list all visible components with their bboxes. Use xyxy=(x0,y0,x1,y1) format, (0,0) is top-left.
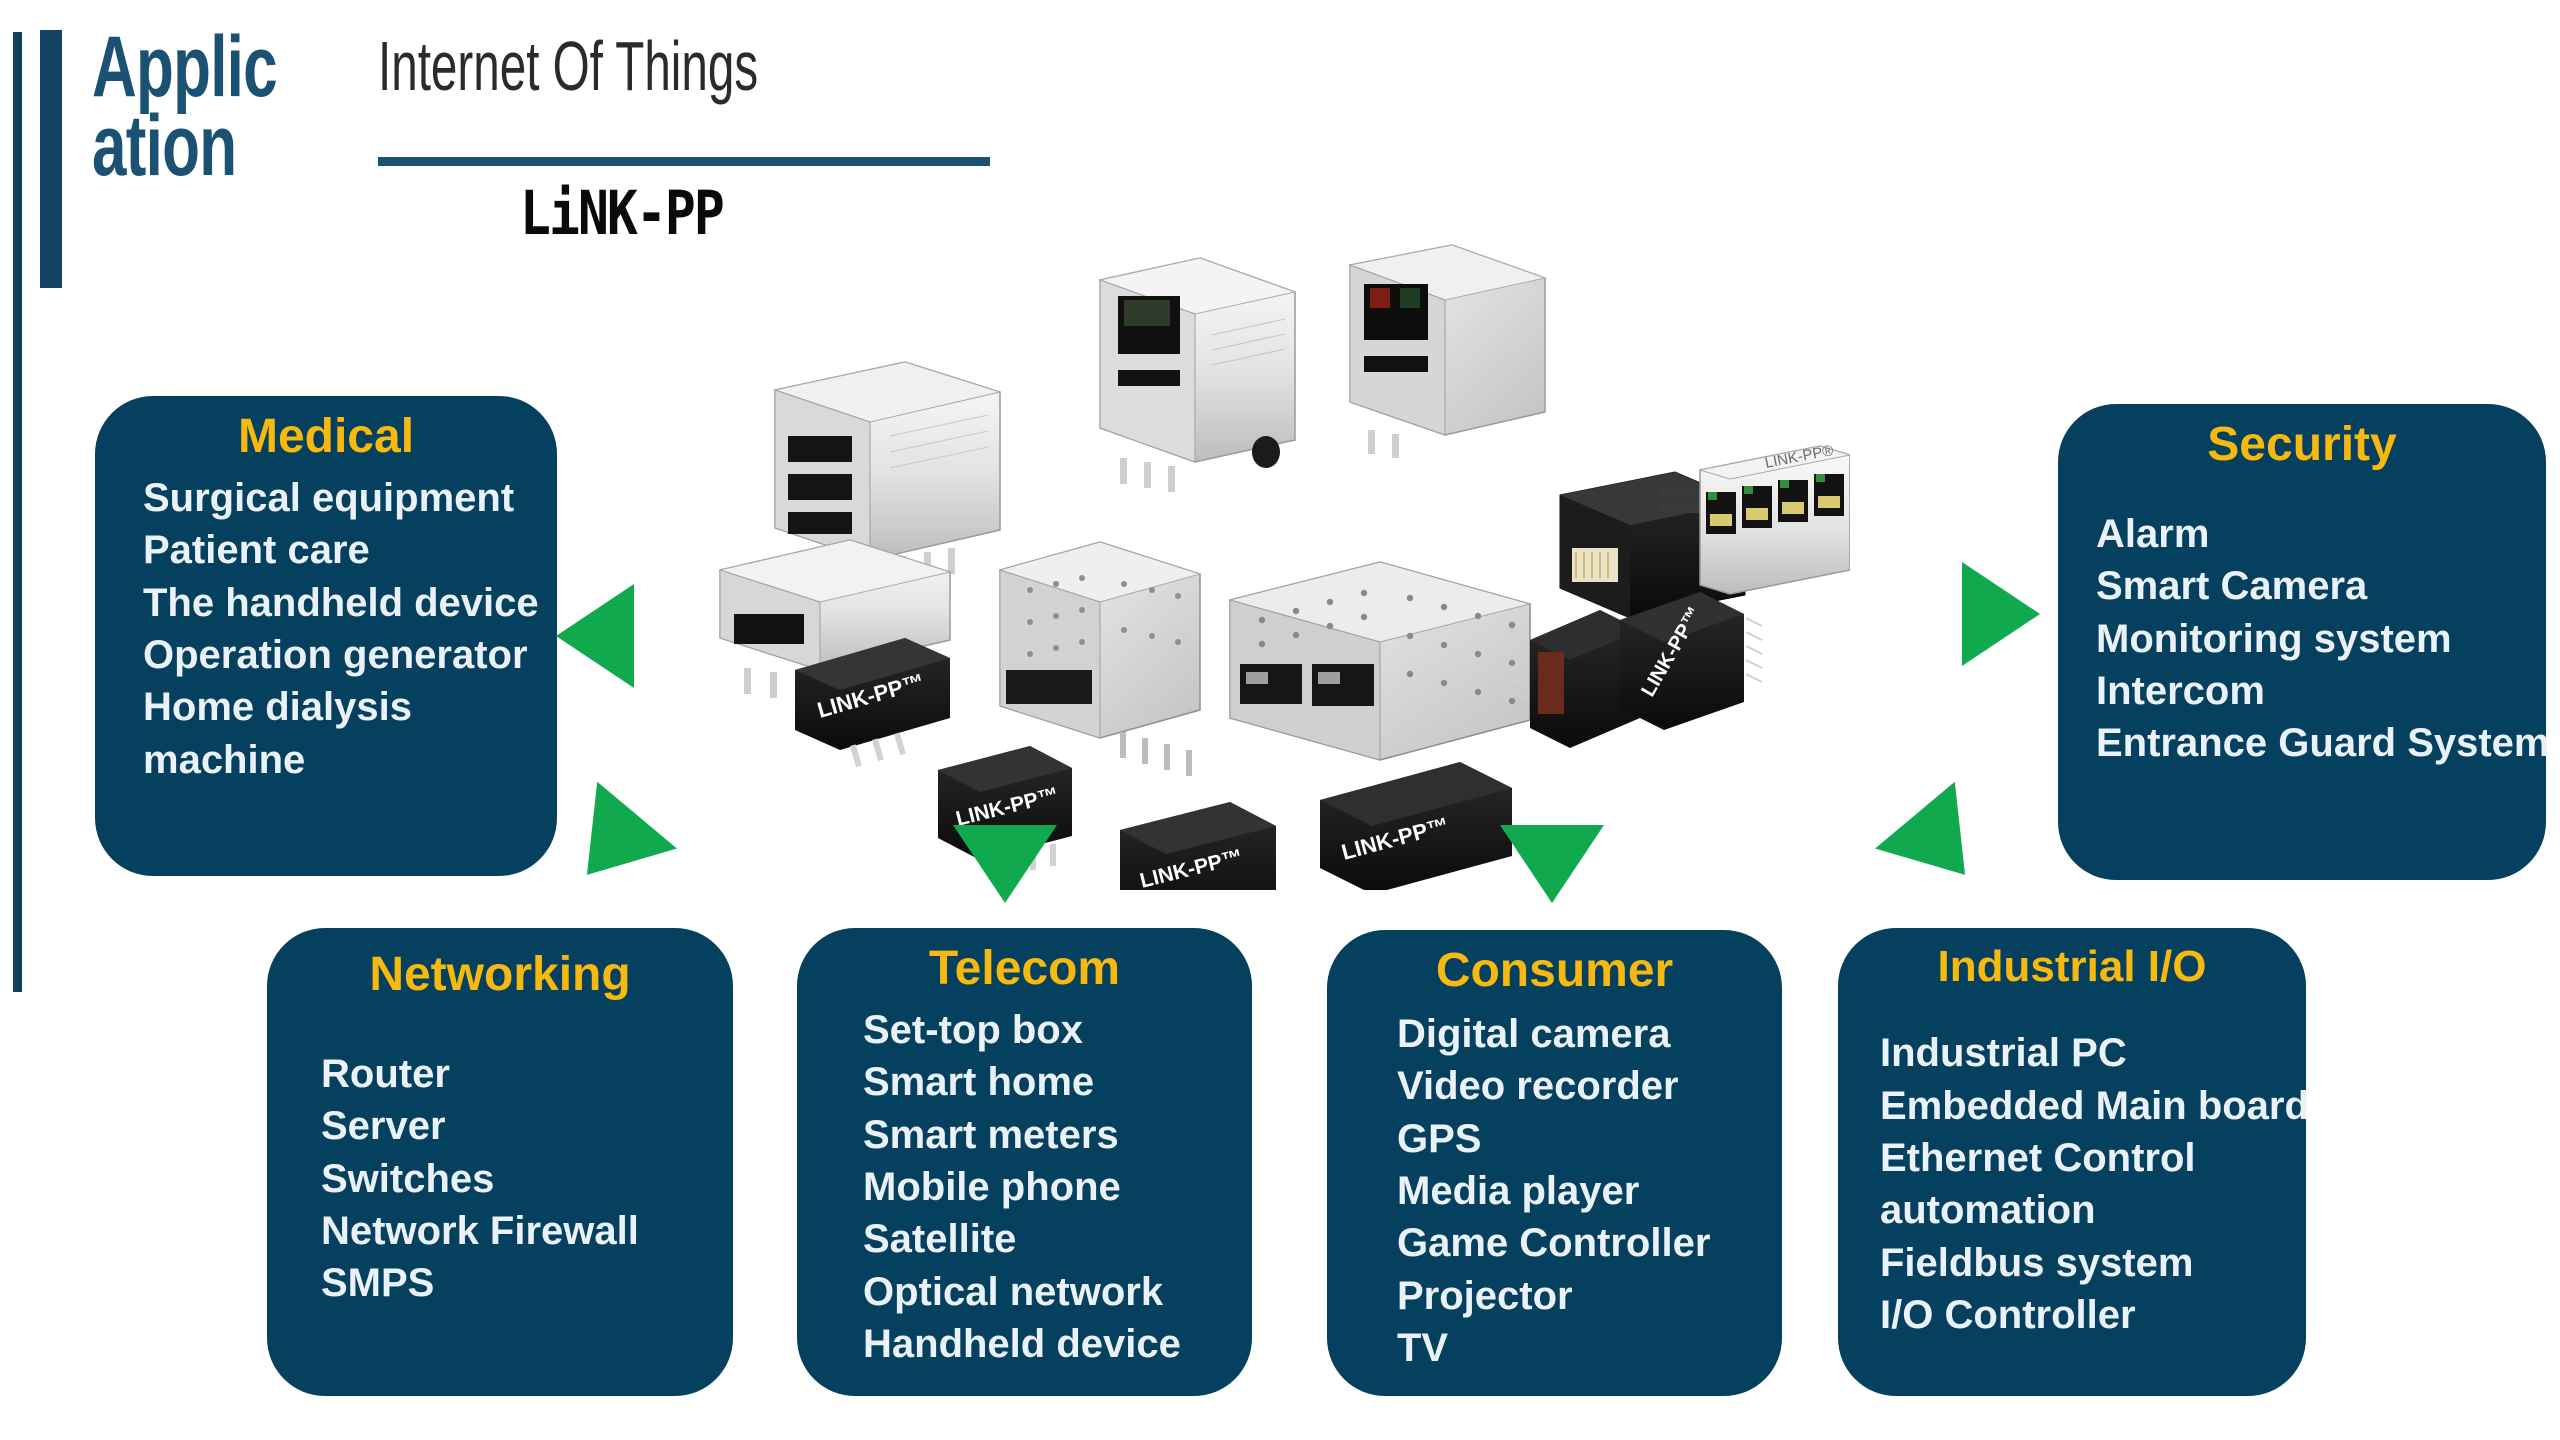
product-transformer-3: LINK-PP™ xyxy=(1120,802,1276,890)
arrow-down-icon-consumer xyxy=(1500,825,1604,903)
list-item: Smart home xyxy=(863,1056,1226,1108)
brand-logo: LiNK-PP xyxy=(520,178,723,249)
product-transformer-4: LINK-PP™ xyxy=(1320,762,1512,890)
list-item: Set-top box xyxy=(863,1004,1226,1056)
list-item: Mobile phone xyxy=(863,1161,1226,1213)
list-item: TV xyxy=(1397,1322,1756,1374)
list-item: Projector xyxy=(1397,1270,1756,1322)
list-item: Satellite xyxy=(863,1213,1226,1265)
list-item: Entrance Guard System xyxy=(2096,717,2520,769)
list-item: Ethernet Control xyxy=(1880,1132,2280,1184)
card-list-security: Alarm Smart Camera Monitoring system Int… xyxy=(2084,508,2520,770)
slide-canvas: Applic ation Internet Of Things LiNK-PP xyxy=(0,0,2560,1440)
list-item: Embedded Main board xyxy=(1880,1080,2280,1132)
page-title: Applic ation xyxy=(92,28,283,186)
list-item: Smart meters xyxy=(863,1109,1226,1161)
subtitle-block: Internet Of Things xyxy=(378,30,1018,104)
card-list-consumer: Digital camera Video recorder GPS Media … xyxy=(1353,1008,1756,1375)
application-card-security[interactable]: Security Alarm Smart Camera Monitoring s… xyxy=(2058,404,2546,880)
arrow-down-icon-telecom xyxy=(953,825,1057,903)
list-item: Digital camera xyxy=(1397,1008,1756,1060)
list-item: Operation generator xyxy=(143,629,531,681)
list-item: Switches xyxy=(321,1153,707,1205)
card-title-security: Security xyxy=(2084,418,2520,472)
product-sfp-cage-center xyxy=(1000,542,1200,776)
arrow-down-icon-industrial xyxy=(1875,782,2005,909)
subtitle-underline xyxy=(378,157,990,166)
product-sfp-cage-block xyxy=(1230,562,1530,760)
card-list-telecom: Set-top box Smart home Smart meters Mobi… xyxy=(823,1004,1226,1371)
card-title-telecom: Telecom xyxy=(823,942,1226,996)
list-item: automation xyxy=(1880,1184,2280,1236)
application-card-industrial-io[interactable]: Industrial I/O Industrial PC Embedded Ma… xyxy=(1838,928,2306,1396)
left-vertical-rule-tall xyxy=(13,32,22,992)
list-item: Handheld device xyxy=(863,1318,1226,1370)
list-item: The handheld device xyxy=(143,577,531,629)
list-item: Patient care xyxy=(143,524,531,576)
card-title-industrial-io: Industrial I/O xyxy=(1864,942,2280,991)
application-card-consumer[interactable]: Consumer Digital camera Video recorder G… xyxy=(1327,930,1782,1396)
product-rj45-topright xyxy=(1350,245,1545,458)
list-item: Video recorder xyxy=(1397,1060,1756,1112)
application-card-medical[interactable]: Medical Surgical equipment Patient care … xyxy=(95,396,557,876)
product-photo: LINK-PP® LINK-PP™ LINK-PP™ LINK-PP™ xyxy=(700,240,1850,890)
product-rj45-quad-right: LINK-PP® xyxy=(1700,442,1850,594)
arrow-down-icon-networking xyxy=(547,782,677,909)
left-vertical-rule-short xyxy=(40,30,62,288)
list-item: machine xyxy=(143,734,531,786)
card-list-medical: Surgical equipment Patient care The hand… xyxy=(121,472,531,786)
card-list-industrial-io: Industrial PC Embedded Main board Ethern… xyxy=(1864,1027,2280,1341)
list-item: I/O Controller xyxy=(1880,1289,2280,1341)
list-item: Alarm xyxy=(2096,508,2520,560)
subtitle-text: Internet Of Things xyxy=(378,30,813,104)
list-item: SMPS xyxy=(321,1257,707,1309)
list-item: Optical network xyxy=(863,1266,1226,1318)
list-item: Industrial PC xyxy=(1880,1027,2280,1079)
arrow-left-icon-medical xyxy=(556,584,634,688)
application-card-telecom[interactable]: Telecom Set-top box Smart home Smart met… xyxy=(797,928,1252,1396)
list-item: Home dialysis xyxy=(143,681,531,733)
card-title-networking: Networking xyxy=(293,948,707,1002)
list-item: Network Firewall xyxy=(321,1205,707,1257)
list-item: Intercom xyxy=(2096,665,2520,717)
list-item: GPS xyxy=(1397,1113,1756,1165)
product-rj45-tall-center xyxy=(1100,258,1295,492)
list-item: Router xyxy=(321,1048,707,1100)
card-title-medical: Medical xyxy=(121,410,531,464)
list-item: Surgical equipment xyxy=(143,472,531,524)
product-transformer-6: LINK-PP™ xyxy=(1620,592,1762,730)
list-item: Server xyxy=(321,1100,707,1152)
arrow-right-icon-security xyxy=(1962,562,2040,666)
application-card-networking[interactable]: Networking Router Server Switches Networ… xyxy=(267,928,733,1396)
card-title-consumer: Consumer xyxy=(1353,944,1756,998)
list-item: Fieldbus system xyxy=(1880,1237,2280,1289)
card-list-networking: Router Server Switches Network Firewall … xyxy=(293,1048,707,1310)
list-item: Media player xyxy=(1397,1165,1756,1217)
list-item: Monitoring system xyxy=(2096,613,2520,665)
list-item: Smart Camera xyxy=(2096,560,2520,612)
list-item: Game Controller xyxy=(1397,1217,1756,1269)
